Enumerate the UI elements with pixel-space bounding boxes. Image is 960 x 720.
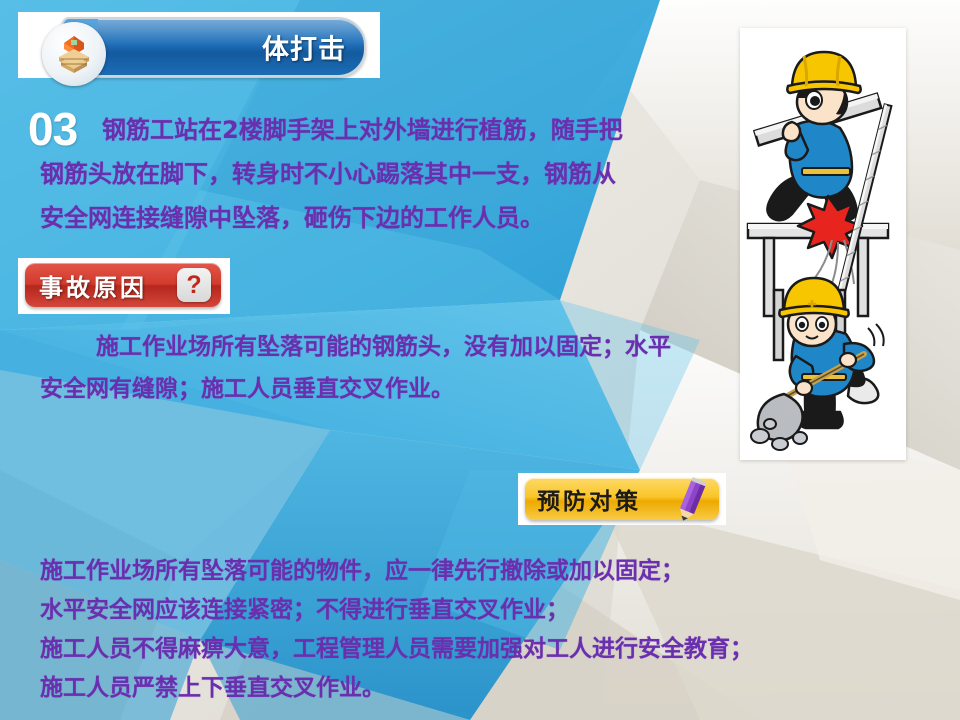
building-scaffold-icon xyxy=(42,22,106,86)
accident-illustration xyxy=(740,28,906,460)
prevention-badge-plate: 预防对策 xyxy=(525,478,719,520)
cause-badge: 事故原因 ? xyxy=(18,258,230,314)
title-bar: 体打击 xyxy=(18,12,380,78)
measure-line: 施工人员不得麻痹大意，工程管理人员需要加强对工人进行安全教育； xyxy=(40,630,920,669)
title-bar-plate: 体打击 xyxy=(62,17,366,77)
question-mark-icon: ? xyxy=(177,268,211,302)
cause-badge-plate: 事故原因 ? xyxy=(25,263,221,307)
measure-line: 施工作业场所有坠落可能的物件，应一律先行撤除或加以固定； xyxy=(40,552,920,591)
prevention-measures-list: 施工作业场所有坠落可能的物件，应一律先行撤除或加以固定； 水平安全网应该连接紧密… xyxy=(40,552,920,708)
prevention-badge: 预防对策 xyxy=(518,473,726,525)
measure-line: 施工人员严禁上下垂直交叉作业。 xyxy=(40,669,920,708)
slide-title: 体打击 xyxy=(262,28,346,67)
pencil-icon xyxy=(669,475,713,530)
case-description: 钢筋工站在2楼脚手架上对外墙进行植筋，随手把钢筋头放在脚下，转身时不小心踢落其中… xyxy=(40,108,630,240)
cause-badge-label: 事故原因 xyxy=(39,268,147,303)
cause-text: 施工作业场所有坠落可能的钢筋头，没有加以固定；水平安全网有缝隙；施工人员垂直交叉… xyxy=(40,326,680,410)
prevention-badge-label: 预防对策 xyxy=(537,482,641,516)
slide-canvas: 体打击 xyxy=(0,0,960,720)
measure-line: 水平安全网应该连接紧密；不得进行垂直交叉作业； xyxy=(40,591,920,630)
